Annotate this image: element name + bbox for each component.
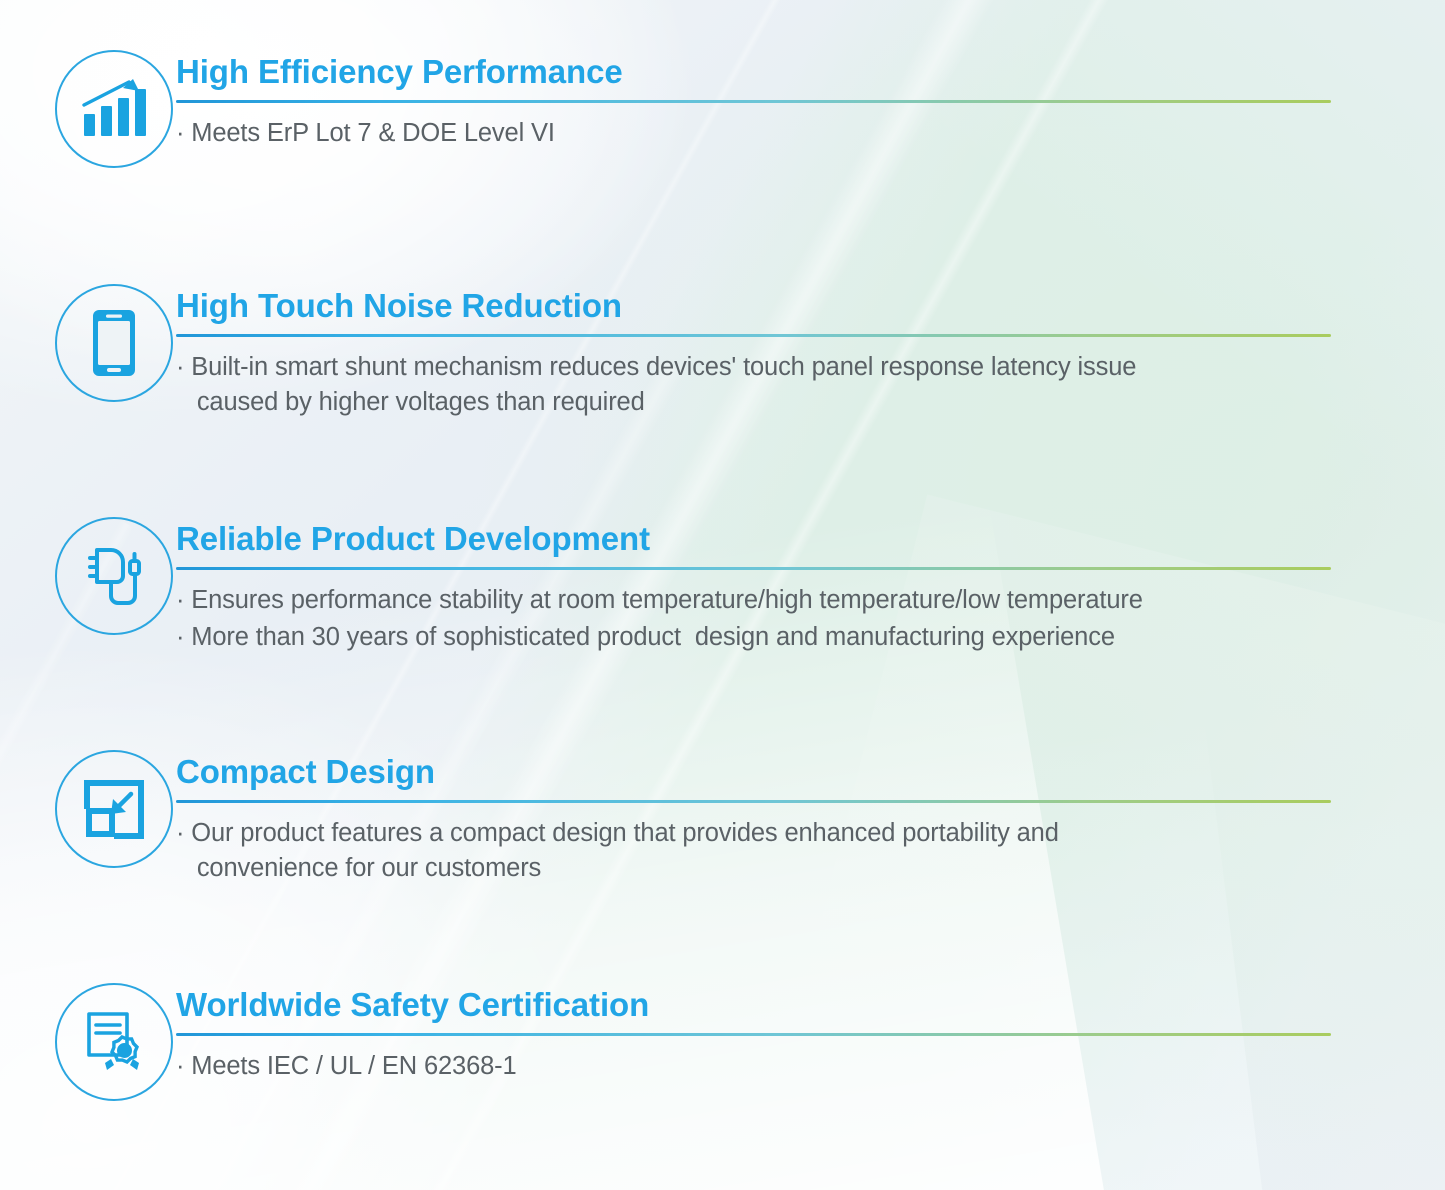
feature-icon-wrapper — [52, 50, 176, 168]
feature-bullet: · More than 30 years of sophisticated pr… — [176, 620, 1367, 655]
bar-chart-growth-icon — [81, 78, 147, 140]
icon-circle — [55, 983, 173, 1101]
feature-icon-wrapper — [52, 983, 176, 1101]
feature-title: High Touch Noise Reduction — [176, 288, 1367, 324]
feature-icon-wrapper — [52, 517, 176, 635]
feature-icon-wrapper — [52, 750, 176, 868]
feature-bullets: · Meets IEC / UL / EN 62368-1 — [176, 1049, 1367, 1084]
feature-bullet: · Meets ErP Lot 7 & DOE Level VI — [176, 116, 1367, 151]
feature-divider — [176, 1033, 1331, 1036]
feature-title: Worldwide Safety Certification — [176, 987, 1367, 1023]
feature-item-compact-design: Compact Design · Our product features a … — [52, 750, 1367, 887]
icon-circle — [55, 50, 173, 168]
feature-divider — [176, 334, 1331, 337]
feature-body: High Efficiency Performance · Meets ErP … — [176, 50, 1367, 151]
feature-item-high-touch-noise-reduction: High Touch Noise Reduction · Built-in sm… — [52, 284, 1367, 421]
feature-body: Worldwide Safety Certification · Meets I… — [176, 983, 1367, 1084]
feature-body: Compact Design · Our product features a … — [176, 750, 1367, 887]
feature-title: High Efficiency Performance — [176, 54, 1367, 90]
certificate-award-icon — [81, 1009, 147, 1075]
feature-body: Reliable Product Development · Ensures p… — [176, 517, 1367, 656]
feature-bullets: · Built-in smart shunt mechanism reduces… — [176, 350, 1367, 420]
feature-divider — [176, 800, 1331, 803]
feature-bullet: · Meets IEC / UL / EN 62368-1 — [176, 1049, 1367, 1084]
feature-item-reliable-product-development: Reliable Product Development · Ensures p… — [52, 517, 1367, 656]
feature-title: Compact Design — [176, 754, 1367, 790]
smartphone-icon — [91, 308, 137, 378]
feature-item-high-efficiency-performance: High Efficiency Performance · Meets ErP … — [52, 50, 1367, 168]
feature-bullets: · Our product features a compact design … — [176, 816, 1367, 886]
feature-icon-wrapper — [52, 284, 176, 402]
power-adapter-icon — [77, 541, 151, 611]
feature-bullet: · Built-in smart shunt mechanism reduces… — [176, 350, 1367, 420]
feature-divider — [176, 567, 1331, 570]
feature-divider — [176, 100, 1331, 103]
compact-resize-icon — [83, 778, 145, 840]
feature-bullets: · Meets ErP Lot 7 & DOE Level VI — [176, 116, 1367, 151]
icon-circle — [55, 517, 173, 635]
feature-item-worldwide-safety-certification: Worldwide Safety Certification · Meets I… — [52, 983, 1367, 1101]
feature-bullet: · Ensures performance stability at room … — [176, 583, 1367, 618]
feature-title: Reliable Product Development — [176, 521, 1367, 557]
icon-circle — [55, 284, 173, 402]
feature-list-page: High Efficiency Performance · Meets ErP … — [0, 0, 1445, 1190]
feature-bullets: · Ensures performance stability at room … — [176, 583, 1367, 655]
feature-body: High Touch Noise Reduction · Built-in sm… — [176, 284, 1367, 421]
feature-bullet: · Our product features a compact design … — [176, 816, 1367, 886]
icon-circle — [55, 750, 173, 868]
